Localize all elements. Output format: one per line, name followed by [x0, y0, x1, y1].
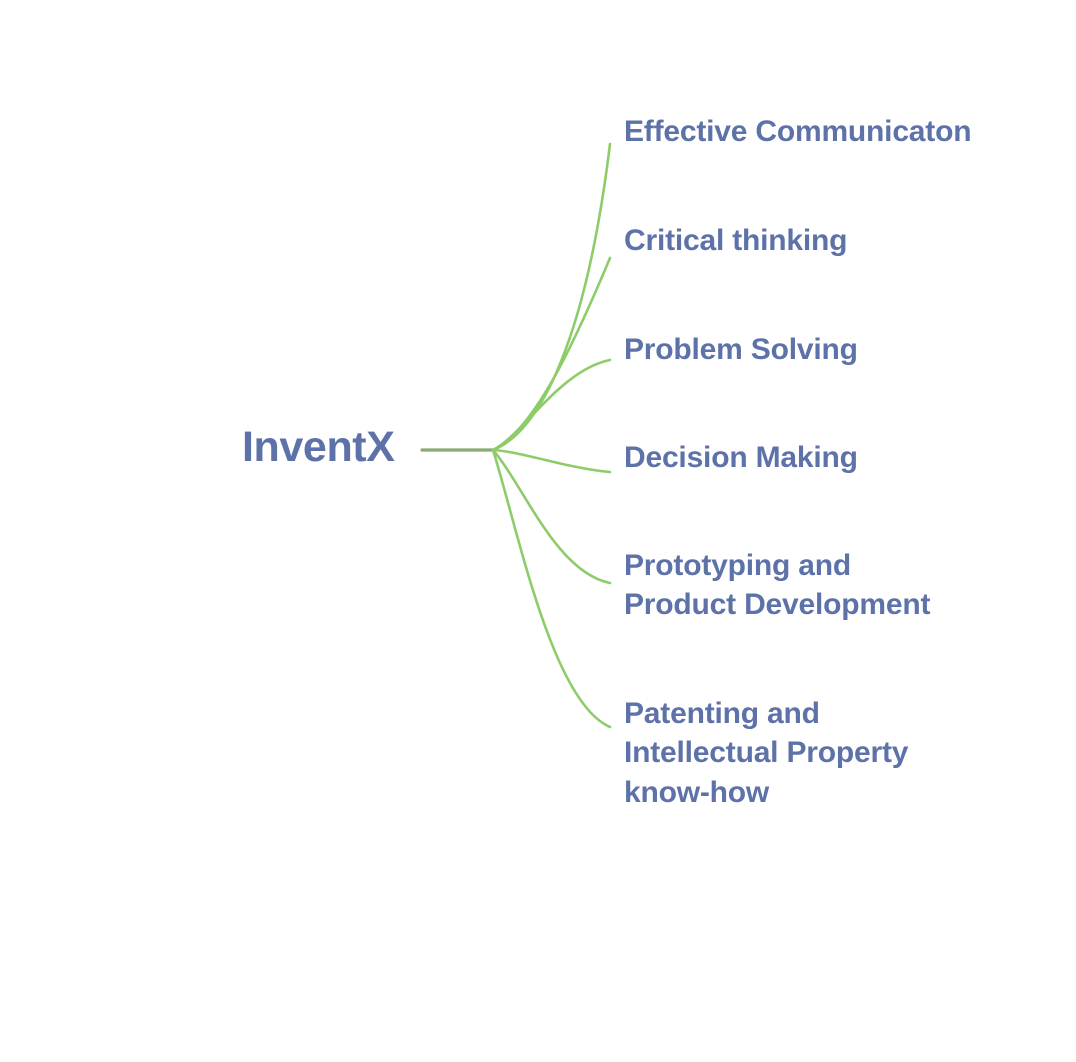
branch-label-6[interactable]: Patenting and Intellectual Property know…: [624, 694, 908, 812]
branch-curve-3: [493, 360, 610, 450]
root-node-inventx[interactable]: InventX: [242, 424, 395, 470]
branch-path-group: [493, 144, 610, 727]
branch-curve-2: [493, 258, 610, 450]
branch-label-3[interactable]: Problem Solving: [624, 330, 858, 369]
branch-label-4[interactable]: Decision Making: [624, 438, 858, 477]
branch-curve-6: [493, 450, 610, 727]
branch-curve-4: [493, 450, 610, 472]
branch-curve-1: [493, 144, 610, 450]
branch-label-5[interactable]: Prototyping and Product Development: [624, 546, 930, 625]
branch-curve-5: [493, 450, 610, 583]
branch-lines: [0, 0, 1076, 1062]
branch-label-1[interactable]: Effective Communicaton: [624, 112, 971, 151]
mindmap-canvas: InventX Effective CommunicatonCritical t…: [0, 0, 1076, 1062]
branch-label-2[interactable]: Critical thinking: [624, 221, 847, 260]
